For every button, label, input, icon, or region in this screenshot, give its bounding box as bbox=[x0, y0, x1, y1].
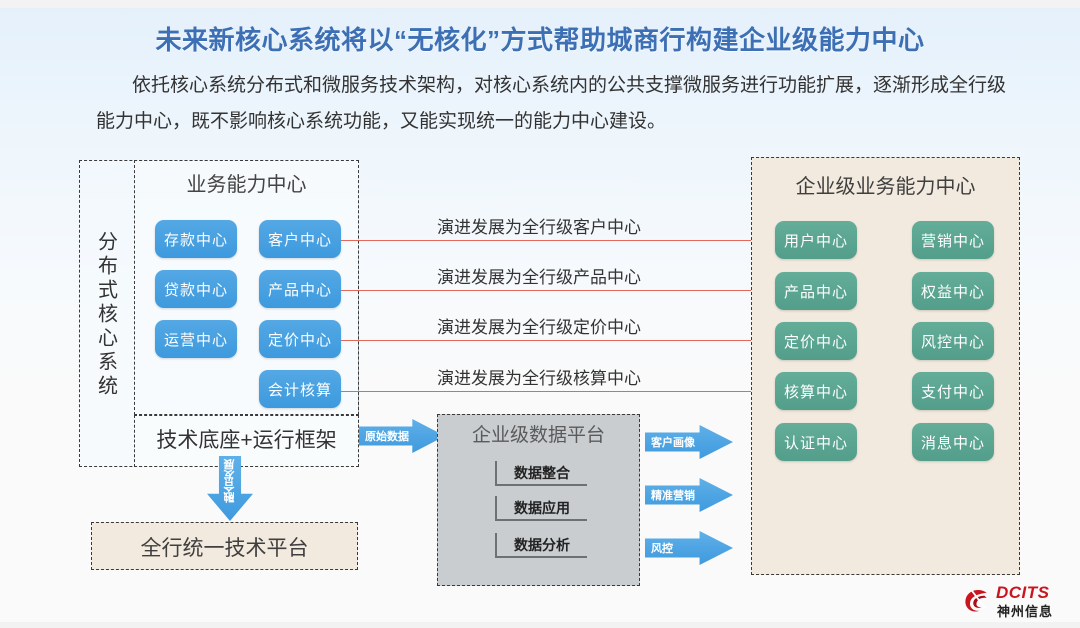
customer-profile-arrow-label: 客户画像 bbox=[651, 434, 695, 450]
evolution-line-2 bbox=[341, 290, 765, 291]
logo-text-en: DCITS bbox=[996, 583, 1050, 603]
core-system-vertical-label: 分布式核心系统 bbox=[82, 195, 130, 435]
evolution-label-3: 演进发展为全行级定价中心 bbox=[437, 313, 641, 338]
top-strip bbox=[0, 0, 1080, 8]
precision-marketing-arrow: 精准营销 bbox=[645, 478, 733, 512]
ent-chip-riskcontrol[interactable]: 风控中心 bbox=[912, 322, 994, 360]
ent-chip-message[interactable]: 消息中心 bbox=[912, 423, 994, 461]
core-chip-customer[interactable]: 客户中心 bbox=[259, 220, 341, 258]
enterprise-capability-frame bbox=[751, 157, 1020, 575]
slide-canvas: 未来新核心系统将以“无核化”方式帮助城商行构建企业级能力中心 依托核心系统分布式… bbox=[0, 0, 1080, 628]
evolution-label-2: 演进发展为全行级产品中心 bbox=[437, 263, 641, 288]
data-platform-title: 企业级数据平台 bbox=[437, 420, 640, 447]
ent-chip-rights[interactable]: 权益中心 bbox=[912, 272, 994, 310]
page-title: 未来新核心系统将以“无核化”方式帮助城商行构建企业级能力中心 bbox=[0, 20, 1080, 57]
raw-data-arrow-label: 原始数据 bbox=[365, 428, 409, 444]
evolution-line-4 bbox=[341, 391, 765, 392]
data-platform-item-analysis[interactable]: 数据分析 bbox=[495, 533, 587, 558]
core-chip-product[interactable]: 产品中心 bbox=[259, 270, 341, 308]
core-chip-accounting[interactable]: 会计核算 bbox=[259, 370, 341, 408]
raw-data-arrow: 原始数据 bbox=[359, 419, 445, 453]
dcits-swirl-icon bbox=[962, 586, 992, 616]
ent-chip-auth[interactable]: 认证中心 bbox=[775, 423, 857, 461]
risk-control-arrow-label: 风控 bbox=[651, 540, 673, 556]
evolution-label-1: 演进发展为全行级客户中心 bbox=[437, 213, 641, 238]
precision-marketing-arrow-label: 精准营销 bbox=[651, 487, 695, 503]
customer-profile-arrow: 客户画像 bbox=[645, 425, 733, 459]
ent-chip-product[interactable]: 产品中心 bbox=[775, 272, 857, 310]
unified-platform-title: 全行统一技术平台 bbox=[91, 532, 358, 562]
core-chip-deposit[interactable]: 存款中心 bbox=[155, 220, 237, 258]
business-capability-title: 业务能力中心 bbox=[134, 168, 359, 197]
core-chip-operation[interactable]: 运营中心 bbox=[155, 320, 237, 358]
merge-development-arrow-label: 融合发展 bbox=[222, 459, 238, 503]
ent-chip-accounting[interactable]: 核算中心 bbox=[775, 372, 857, 410]
evolution-label-4: 演进发展为全行级核算中心 bbox=[437, 364, 641, 389]
data-platform-item-application[interactable]: 数据应用 bbox=[495, 496, 587, 521]
evolution-line-1 bbox=[341, 240, 765, 241]
core-chip-pricing[interactable]: 定价中心 bbox=[259, 320, 341, 358]
bottom-strip bbox=[0, 622, 1080, 628]
data-platform-item-integration[interactable]: 数据整合 bbox=[495, 461, 587, 486]
ent-chip-payment[interactable]: 支付中心 bbox=[912, 372, 994, 410]
risk-control-arrow: 风控 bbox=[645, 531, 733, 565]
ent-chip-user[interactable]: 用户中心 bbox=[775, 221, 857, 259]
brand-logo: DCITS 神州信息 bbox=[962, 582, 1074, 622]
evolution-line-3 bbox=[341, 340, 765, 341]
ent-chip-marketing[interactable]: 营销中心 bbox=[912, 221, 994, 259]
tech-base-title: 技术底座+运行框架 bbox=[134, 424, 359, 454]
page-subtitle: 依托核心系统分布式和微服务技术架构，对核心系统内的公共支撑微服务进行功能扩展，逐… bbox=[96, 68, 1006, 140]
enterprise-capability-title: 企业级业务能力中心 bbox=[751, 170, 1020, 199]
logo-text-cn: 神州信息 bbox=[997, 601, 1053, 620]
ent-chip-pricing[interactable]: 定价中心 bbox=[775, 322, 857, 360]
core-chip-loan[interactable]: 贷款中心 bbox=[155, 270, 237, 308]
